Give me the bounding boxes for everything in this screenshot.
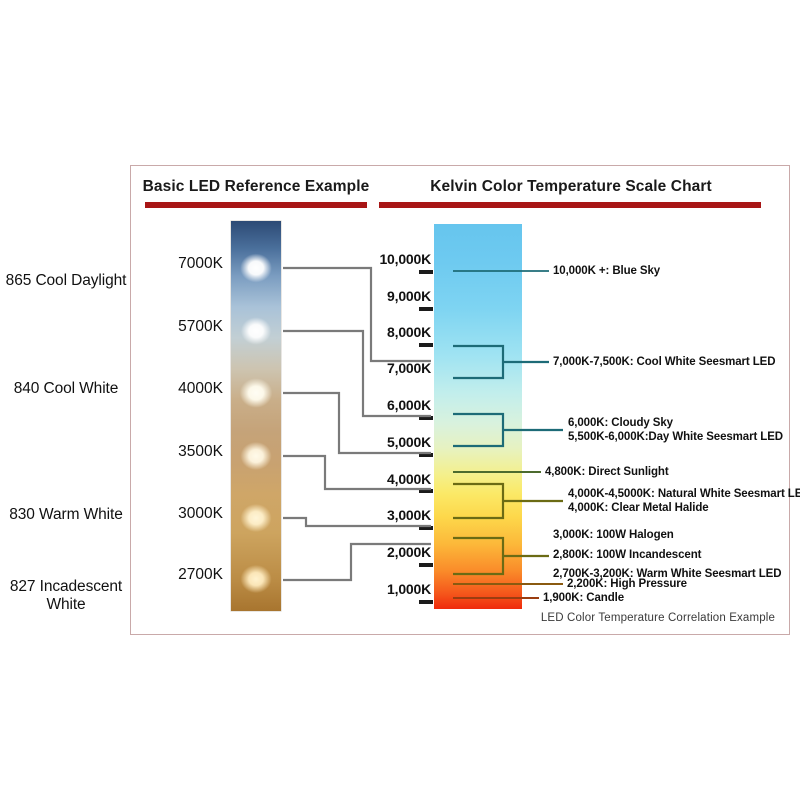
scale-tick-4500	[419, 453, 433, 457]
scale-tick-5500	[419, 416, 433, 420]
scale-tick-3500	[419, 489, 433, 493]
scale-label-6000k: 6,000K	[365, 397, 431, 413]
annotation-100w-incandescent: 2,800K: 100W Incandescent	[553, 548, 701, 564]
annotation-clear-metal-halide: 4,000K: Clear Metal Halide	[568, 501, 709, 517]
side-label-865-cool-daylight: 865 Cool Daylight	[0, 272, 132, 290]
led-strip-image	[231, 221, 281, 611]
scale-tick-8500	[419, 307, 433, 311]
right-title-rule	[379, 202, 761, 208]
led-label-4000k: 4000K	[153, 380, 223, 398]
left-title-rule	[145, 202, 367, 208]
annotation-candle: 1,900K: Candle	[543, 591, 624, 607]
led-label-3000k: 3000K	[153, 505, 223, 523]
side-label-840-cool-white: 840 Cool White	[0, 380, 132, 398]
kelvin-gradient-bar	[434, 224, 522, 609]
led-label-5700k: 5700K	[153, 318, 223, 336]
scale-tick-7500	[419, 343, 433, 347]
left-panel-title: Basic LED Reference Example	[141, 178, 371, 196]
led-label-3500k: 3500K	[153, 443, 223, 461]
scale-tick-500	[419, 600, 433, 604]
scale-label-5000k: 5,000K	[365, 434, 431, 450]
side-label-827-incadescent-white: 827 Incadescent White	[0, 578, 132, 614]
scale-label-2000k: 2,000K	[365, 544, 431, 560]
scale-label-1000k: 1,000K	[365, 581, 431, 597]
scale-label-7000k: 7,000K	[365, 360, 431, 376]
footer-caption: LED Color Temperature Correlation Exampl…	[541, 612, 775, 624]
annotation-day-white-seesmart: 5,500K-6,000K:Day White Seesmart LED	[568, 430, 783, 446]
scale-label-3000k: 3,000K	[365, 507, 431, 523]
chart-frame: Basic LED Reference Example Kelvin Color…	[130, 165, 790, 635]
annotation-cool-white-seesmart: 7,000K-7,500K: Cool White Seesmart LED	[553, 355, 775, 371]
scale-label-10000k: 10,000K	[365, 251, 431, 267]
scale-tick-2500	[419, 526, 433, 530]
scale-tick-1500	[419, 563, 433, 567]
led-label-2700k: 2700K	[153, 566, 223, 584]
chart-canvas: 865 Cool Daylight 840 Cool White 830 War…	[0, 0, 800, 800]
annotation-direct-sunlight: 4,800K: Direct Sunlight	[545, 465, 669, 481]
side-label-830-warm-white: 830 Warm White	[0, 506, 132, 524]
annotation-100w-halogen: 3,000K: 100W Halogen	[553, 528, 674, 544]
annotation-blue-sky: 10,000K +: Blue Sky	[553, 264, 660, 280]
led-label-7000k: 7000K	[153, 255, 223, 273]
right-panel-title: Kelvin Color Temperature Scale Chart	[376, 178, 766, 196]
scale-label-9000k: 9,000K	[365, 288, 431, 304]
scale-tick-9500	[419, 270, 433, 274]
scale-label-8000k: 8,000K	[365, 324, 431, 340]
scale-label-4000k: 4,000K	[365, 471, 431, 487]
